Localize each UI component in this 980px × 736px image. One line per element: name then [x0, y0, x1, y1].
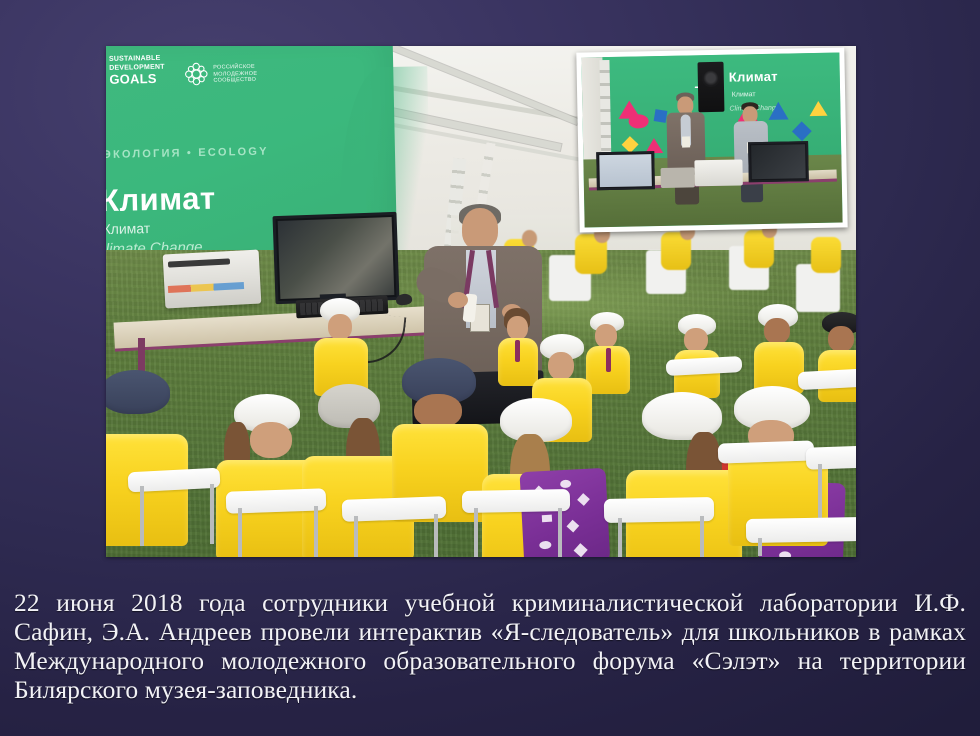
folding-chair — [746, 517, 856, 543]
flower-emblem-icon — [183, 61, 210, 88]
slide-caption: 22 июня 2018 года сотрудники учебной кри… — [14, 588, 966, 704]
child-lanyard — [606, 348, 611, 372]
chair-leg — [238, 508, 242, 557]
child-head — [328, 314, 352, 340]
chair-leg — [618, 518, 622, 557]
chair-leg — [758, 538, 762, 556]
child-head — [828, 326, 854, 352]
inset-monitor-screen — [599, 154, 652, 187]
sdg-logo: SUSTAINABLE DEVELOPMENT GOALS — [109, 54, 172, 91]
child-backpack — [519, 468, 610, 557]
child-lanyard — [515, 340, 520, 362]
chair-leg — [354, 516, 358, 557]
folding-chair — [718, 440, 815, 463]
presenter-hand — [448, 292, 468, 308]
inset-shape-triangle-yellow — [809, 100, 827, 115]
inset-banner-title: Климат — [729, 69, 778, 85]
backpack-pattern — [542, 515, 552, 523]
background-attendee — [811, 237, 841, 273]
banner-subtitle-ru: Климат — [106, 220, 150, 237]
folding-chair — [798, 368, 856, 390]
backpack-pattern — [577, 493, 590, 506]
inset-printer — [694, 160, 742, 187]
inset-shape-triangle-blue — [768, 101, 788, 119]
presenter-head — [462, 208, 498, 250]
child-head — [414, 394, 462, 428]
backpack-pattern — [574, 543, 588, 557]
folding-chair — [462, 489, 570, 513]
inset-monitor-left — [596, 151, 655, 190]
inset-device-box — [661, 168, 695, 189]
folding-chair — [806, 444, 856, 469]
inset-photo-content: Климат Климат Climate Change — [581, 53, 842, 228]
sdg-line-3: GOALS — [109, 72, 171, 87]
backpack-pattern — [560, 480, 571, 489]
banner-eco-label: ЭКОЛОГИЯ • ECOLOGY — [106, 146, 269, 161]
chair-leg — [434, 514, 438, 557]
org-line-3: СООБЩЕСТВО — [213, 77, 257, 84]
inset-tent-truss — [600, 60, 612, 159]
child-head — [764, 318, 790, 344]
chair-leg — [140, 486, 144, 546]
child-head — [250, 422, 292, 458]
inset-monitor-screen — [751, 145, 806, 180]
child-navy-cap — [106, 370, 170, 414]
organization-name: РОССИЙСКОЕ МОЛОДЕЖНОЕ СООБЩЕСТВО — [213, 64, 257, 84]
inset-monitor-right — [748, 142, 809, 183]
child-head — [507, 316, 528, 340]
chair-leg — [210, 484, 214, 544]
child-head — [684, 328, 708, 352]
inset-banner-subtitle: Климат — [732, 92, 756, 99]
caption-text: 22 июня 2018 года сотрудники учебной кри… — [14, 588, 966, 704]
banner-title: Климат — [106, 181, 216, 219]
child-head — [548, 352, 574, 380]
demo-monitor — [273, 212, 400, 304]
backpack-pattern — [779, 551, 791, 557]
chair-leg — [558, 508, 562, 557]
inset-presenter-1 — [665, 93, 707, 206]
presentation-slide: SUSTAINABLE DEVELOPMENT GOALS — [0, 0, 980, 736]
chair-leg — [700, 516, 704, 557]
chair-leg — [474, 508, 478, 557]
demo-monitor-screen — [278, 217, 395, 299]
backpack-pattern — [539, 541, 551, 550]
inset-photo: Климат Климат Climate Change — [576, 47, 847, 232]
backpack-pattern — [567, 520, 580, 533]
inset-presenter-badge — [681, 137, 689, 148]
chair-leg — [314, 506, 318, 557]
child-head — [595, 324, 617, 348]
